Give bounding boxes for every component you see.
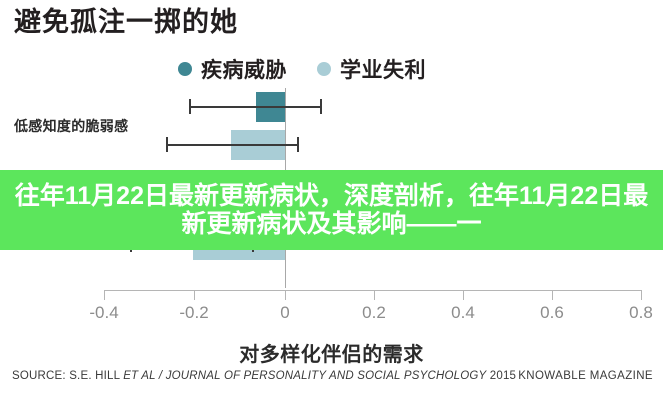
axis-tick — [374, 290, 375, 300]
source-journal: ET AL / JOURNAL OF PERSONALITY AND SOCIA… — [123, 370, 486, 382]
axis-tick — [104, 290, 105, 300]
axis-tick-label: -0.4 — [89, 303, 118, 323]
errorbar-cap-right — [297, 137, 299, 152]
axis-tick-label: 0.6 — [540, 303, 564, 323]
chart-screenshot: 避免孤注一掷的她 疾病威胁 学业失利 低感知度的脆弱感 高感知度的脆弱感 — [0, 0, 663, 400]
source-year: 2015 — [486, 370, 516, 382]
axis-tick — [463, 290, 464, 300]
page-title: 避免孤注一掷的她 — [14, 8, 238, 38]
legend-item-academic[interactable]: 学业失利 — [317, 54, 426, 84]
brand-credit: KNOWABLE MAGAZINE — [518, 370, 653, 382]
axis-tick — [194, 290, 195, 300]
axis-tick-label: -0.2 — [179, 303, 208, 323]
legend-label: 疾病威胁 — [201, 54, 287, 84]
axis-tick — [641, 290, 642, 300]
axis-tick — [285, 290, 286, 300]
errorbar-low-academic — [166, 144, 298, 146]
legend-item-disease[interactable]: 疾病威胁 — [178, 54, 287, 84]
axis-tick — [552, 290, 553, 300]
axis-tick-label: 0.2 — [362, 303, 386, 323]
legend-label: 学业失利 — [340, 54, 426, 84]
errorbar-cap-left — [166, 137, 168, 152]
chart-legend: 疾病威胁 学业失利 — [178, 54, 426, 84]
axis-tick-label: 0.4 — [451, 303, 475, 323]
errorbar-cap-left — [189, 99, 191, 114]
errorbar-low-disease — [189, 106, 321, 108]
x-axis-title: 对多样化伴侣的需求 — [0, 338, 663, 367]
legend-dot-icon — [317, 62, 331, 76]
source-prefix: SOURCE: S.E. HILL — [12, 370, 123, 382]
footer: SOURCE: S.E. HILL ET AL / JOURNAL OF PER… — [0, 370, 663, 390]
axis-line — [104, 290, 641, 291]
errorbar-cap-right — [320, 99, 322, 114]
source-credit: SOURCE: S.E. HILL ET AL / JOURNAL OF PER… — [12, 370, 516, 382]
legend-dot-icon — [178, 62, 192, 76]
overlay-banner: 往年11月22日最新更新病状，深度剖析，往年11月22日最新更新病状及其影响——… — [0, 170, 663, 250]
axis-tick-label: 0 — [280, 303, 289, 323]
axis-tick-label: 0.8 — [629, 303, 653, 323]
category-label-low: 低感知度的脆弱感 — [14, 116, 128, 136]
overlay-headline: 往年11月22日最新更新病状，深度剖析，往年11月22日最新更新病状及其影响——… — [6, 182, 657, 238]
